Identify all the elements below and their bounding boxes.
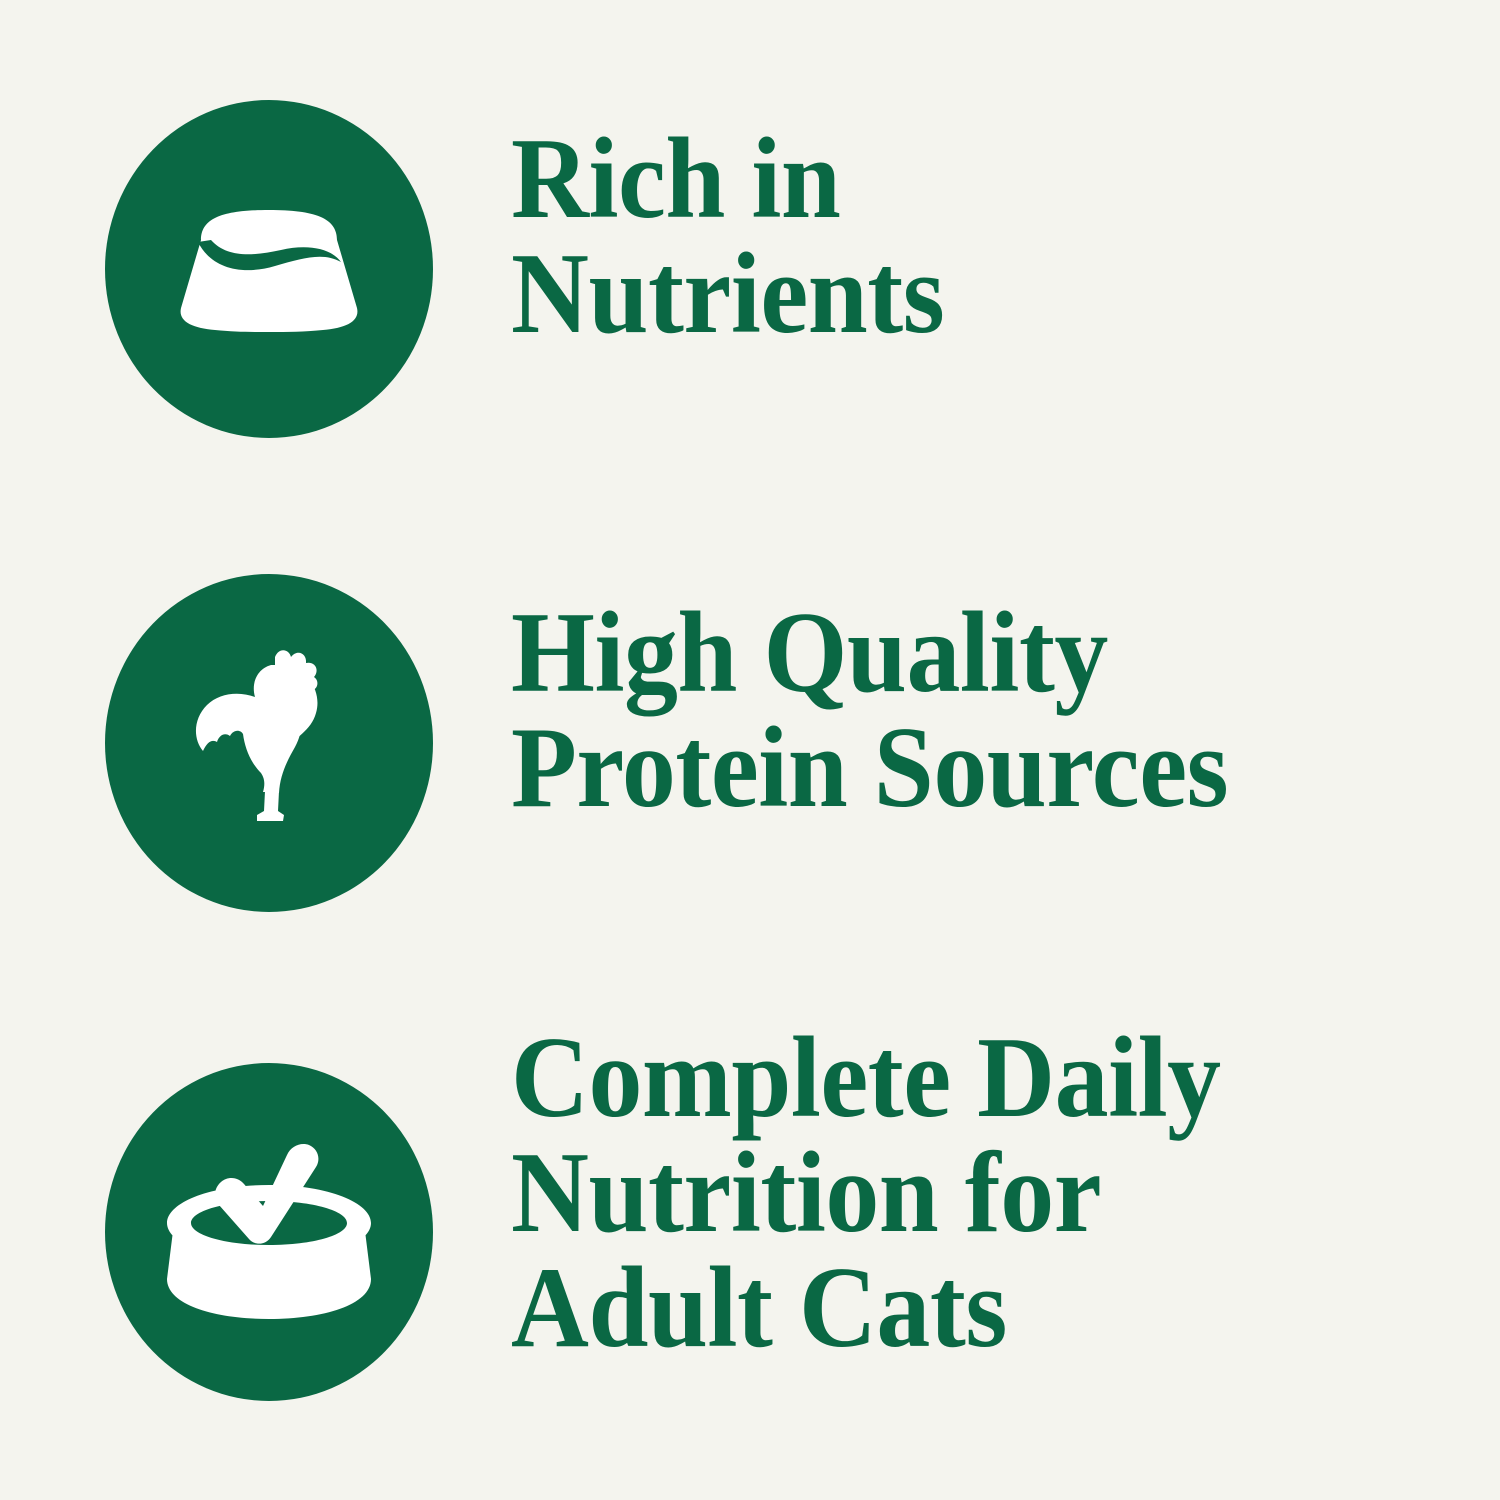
rooster-icon xyxy=(179,643,359,843)
benefit-row: High Quality Protein Sources xyxy=(0,574,1500,912)
benefit-icon-badge xyxy=(105,100,433,438)
benefit-heading: Rich in Nutrients xyxy=(511,122,1404,352)
benefit-row: Complete Daily Nutrition for Adult Cats xyxy=(0,1063,1500,1401)
benefit-icon-badge xyxy=(105,574,433,912)
bowl-check-icon xyxy=(163,1139,375,1325)
food-bowl-icon xyxy=(171,204,367,334)
benefit-icon-badge xyxy=(105,1063,433,1401)
benefit-row: Rich in Nutrients xyxy=(0,100,1500,438)
benefit-heading: Complete Daily Nutrition for Adult Cats xyxy=(511,1021,1404,1366)
infographic-canvas: Rich in Nutrients High Quality Protein S… xyxy=(0,0,1500,1500)
benefit-heading: High Quality Protein Sources xyxy=(511,596,1404,826)
